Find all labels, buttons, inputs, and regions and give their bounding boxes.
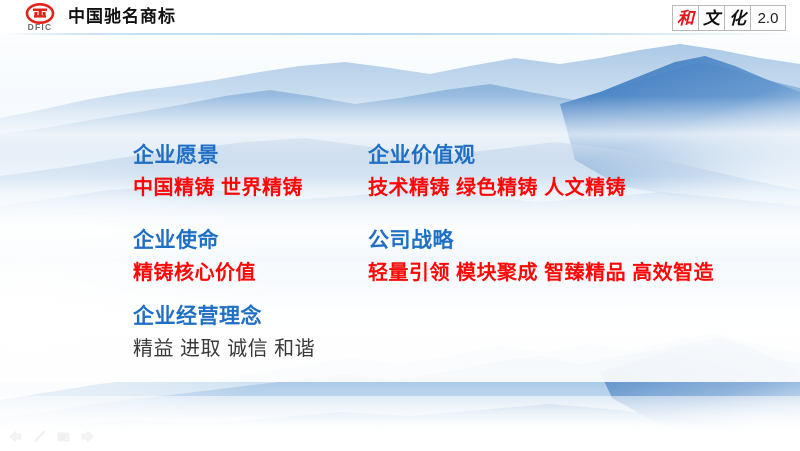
dfic-oval-logo-icon: DFIC [16,3,64,32]
block-mission-heading: 企业使命 [133,227,256,255]
culture-badge-cell-hua: 化 [725,6,751,30]
presenter-controls [8,429,95,444]
culture-badge-cell-version: 2.0 [751,6,785,30]
brand-title: 中国驰名商标 [68,6,176,28]
block-values: 企业价值观 技术精铸 绿色精铸 人文精铸 [368,142,626,202]
presentation-slide: DFIC 中国驰名商标 和 文 化 2.0 企业愿景 中国精铸 世界精铸 企业使… [0,0,800,451]
block-vision-body: 中国精铸 世界精铸 [133,175,303,202]
block-values-body: 技术精铸 绿色精铸 人文精铸 [368,175,626,202]
block-philosophy-heading: 企业经营理念 [133,303,315,331]
mountain-background [0,0,800,451]
block-philosophy-body: 精益 进取 诚信 和谐 [133,336,315,363]
menu-icon[interactable] [56,429,71,444]
block-strategy-body: 轻量引领 模块聚成 智臻精品 高效智造 [368,260,714,287]
previous-arrow-icon[interactable] [8,429,23,444]
block-mission-body: 精铸核心价值 [133,260,256,287]
pen-icon[interactable] [32,429,47,444]
block-mission: 企业使命 精铸核心价值 [133,227,256,287]
header-divider-rule [0,33,800,35]
block-strategy: 公司战略 轻量引领 模块聚成 智臻精品 高效智造 [368,227,714,287]
culture-badge-cell-he: 和 [673,6,699,30]
block-vision-heading: 企业愿景 [133,142,303,170]
block-strategy-heading: 公司战略 [368,227,714,255]
next-arrow-icon[interactable] [80,429,95,444]
culture-badge: 和 文 化 2.0 [672,5,786,31]
block-philosophy: 企业经营理念 精益 进取 诚信 和谐 [133,303,315,363]
block-values-heading: 企业价值观 [368,142,626,170]
culture-badge-cell-wen: 文 [699,6,725,30]
slide-header: DFIC 中国驰名商标 和 文 化 2.0 [0,0,800,34]
block-vision: 企业愿景 中国精铸 世界精铸 [133,142,303,202]
svg-text:DFIC: DFIC [28,22,53,32]
